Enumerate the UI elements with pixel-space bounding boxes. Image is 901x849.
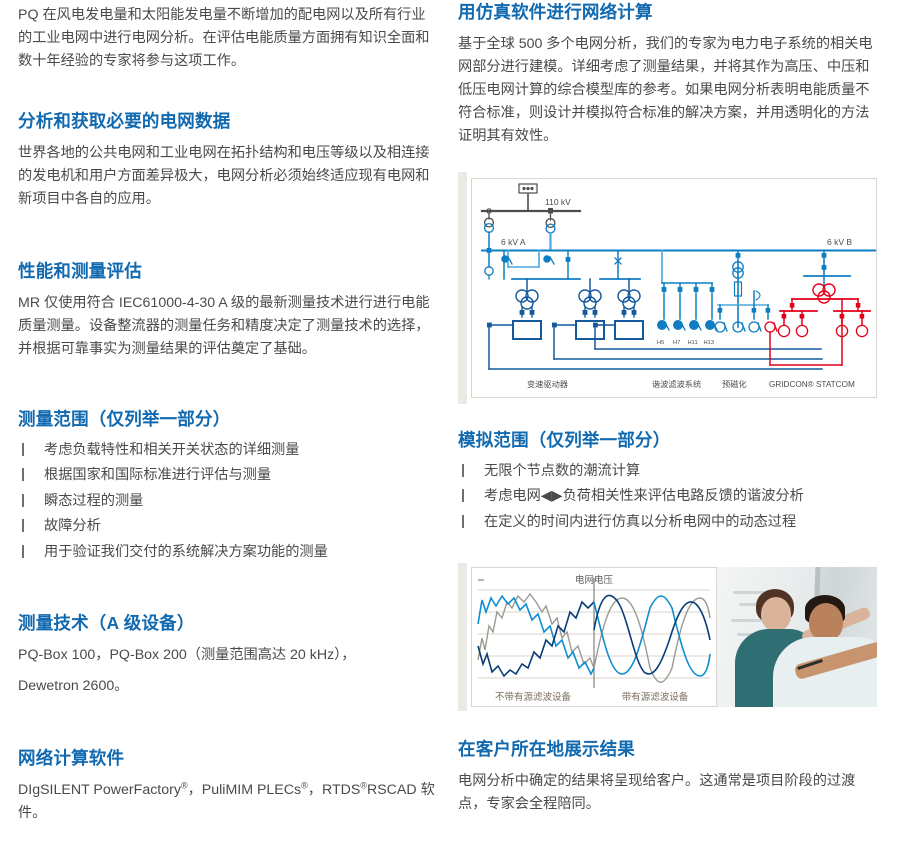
list-item: 故障分析	[18, 516, 436, 537]
spacer	[458, 404, 881, 430]
section-heading-performance: 性能和测量评估	[18, 261, 436, 283]
bullet-bar-icon	[22, 468, 24, 481]
list-item: 无限个节点数的潮流计算	[458, 461, 881, 482]
right-column: 用仿真软件进行网络计算 基于全球 500 多个电网分析，我们的专家为电力电子系统…	[450, 0, 901, 849]
bullet-bar-icon	[462, 464, 464, 477]
svg-text:110 kV: 110 kV	[545, 197, 571, 207]
single-line-diagram-figure: 110 kV	[458, 172, 889, 404]
measurement-scope-list: 考虑负载特性和相关开关状态的详细测量 根据国家和国际标准进行评估与测量 瞬态过程…	[18, 440, 436, 563]
page-root: PQ 在风电发电量和太阳能发电量不断增加的配电网以及所有行业的工业电网中进行电网…	[0, 0, 901, 849]
consultants-photo	[717, 567, 877, 707]
waveform-caption-left: 不带有源滤波设备	[472, 689, 594, 703]
registered-mark-icon: ®	[181, 780, 188, 790]
list-item-label: 考虑负载特性和相关开关状态的详细测量	[44, 442, 299, 458]
spacer	[18, 369, 436, 409]
network-software-paragraph: DIgSILENT PowerFactory®，PuliMIM PLECs®，R…	[18, 779, 436, 825]
bullet-bar-icon	[22, 494, 24, 507]
section-heading-simulation-scope: 模拟范围（仅列举一部分）	[458, 430, 881, 452]
figure-frame: 电网电压	[471, 567, 877, 707]
list-item: 考虑负载特性和相关开关状态的详细测量	[18, 440, 436, 461]
bullet-bar-icon	[22, 519, 24, 532]
spacer	[458, 156, 881, 168]
diagram-label-filters: 谐波滤波系统	[652, 379, 701, 389]
left-column: PQ 在风电发电量和太阳能发电量不断增加的配电网以及所有行业的工业电网中进行电网…	[0, 0, 450, 849]
intro-paragraph: PQ 在风电发电量和太阳能发电量不断增加的配电网以及所有行业的工业电网中进行电网…	[18, 4, 436, 73]
list-item-label: 用于验证我们交付的系统解决方案功能的测量	[44, 544, 328, 560]
software-plecs-prefix: ，PuliMIM PLECs	[188, 782, 302, 798]
section-heading-simulation: 用仿真软件进行网络计算	[458, 2, 881, 24]
list-item-label: 瞬态过程的测量	[44, 493, 143, 509]
list-item-label: 考虑电网◀▶负荷相关性来评估电路反馈的谐波分析	[484, 488, 804, 504]
list-item: 根据国家和国际标准进行评估与测量	[18, 465, 436, 486]
list-item: 考虑电网◀▶负荷相关性来评估电路反馈的谐波分析	[458, 486, 881, 507]
waveform-svg	[472, 568, 716, 706]
simulation-scope-list: 无限个节点数的潮流计算 考虑电网◀▶负荷相关性来评估电路反馈的谐波分析 在定义的…	[458, 461, 881, 533]
grid-voltage-waveform-chart: 电网电压	[471, 567, 717, 707]
diagram-label-drives: 变速驱动器	[527, 379, 568, 389]
section-heading-measurement-tech: 测量技术（A 级设备）	[18, 613, 436, 635]
svg-text:H5: H5	[657, 340, 664, 346]
measurement-tech-line1: PQ-Box 100，PQ-Box 200（测量范围高达 20 kHz），	[18, 644, 436, 667]
section-heading-results: 在客户所在地展示结果	[458, 739, 881, 761]
spacer	[18, 81, 436, 111]
diagram-svg: 110 kV	[472, 179, 877, 397]
waveform-photo-figure: 电网电压	[458, 563, 889, 711]
list-item: 瞬态过程的测量	[18, 491, 436, 512]
spacer	[458, 537, 881, 559]
section-paragraph-grid-data: 世界各地的公共电网和工业电网在拓扑结构和电压等级以及相连接的发电机和用户方面差异…	[18, 142, 436, 211]
registered-mark-icon: ®	[360, 780, 367, 790]
list-item-label: 故障分析	[44, 518, 101, 534]
bullet-bar-icon	[462, 489, 464, 502]
waveform-captions: 不带有源滤波设备 带有源滤波设备	[472, 689, 716, 703]
section-heading-grid-data: 分析和获取必要的电网数据	[18, 111, 436, 133]
section-paragraph-simulation: 基于全球 500 多个电网分析，我们的专家为电力电子系统的相关电网部分进行建模。…	[458, 33, 881, 148]
svg-text:H7: H7	[673, 340, 680, 346]
measurement-tech-line2: Dewetron 2600。	[18, 675, 436, 698]
section-paragraph-results: 电网分析中确定的结果将呈现给客户。这通常是项目阶段的过渡点，专家会全程陪同。	[458, 770, 881, 816]
bullet-bar-icon	[22, 545, 24, 558]
svg-text:H13: H13	[704, 340, 715, 346]
software-powerfactory: DIgSILENT PowerFactory	[18, 782, 181, 798]
bullet-bar-icon	[22, 443, 24, 456]
software-rtds-prefix: ，RTDS	[308, 782, 361, 798]
list-item: 用于验证我们交付的系统解决方案功能的测量	[18, 542, 436, 563]
person-head	[809, 603, 843, 641]
list-item: 在定义的时间内进行仿真以分析电网中的动态过程	[458, 512, 881, 533]
diagram-label-premag: 预磁化	[722, 379, 747, 389]
svg-text:H11: H11	[688, 340, 698, 346]
list-item-label: 在定义的时间内进行仿真以分析电网中的动态过程	[484, 514, 796, 530]
diagram-label-statcom: GRIDCON® STATCOM	[769, 380, 855, 389]
diagram-frame: 110 kV	[471, 178, 877, 398]
svg-text:6 kV A: 6 kV A	[501, 237, 526, 247]
waveform-title: 电网电压	[472, 572, 716, 586]
bullet-bar-icon	[462, 515, 464, 528]
person-head	[761, 597, 791, 631]
svg-text:6 kV B: 6 kV B	[827, 237, 852, 247]
registered-mark-icon: ®	[301, 780, 308, 790]
spacer	[18, 219, 436, 261]
section-heading-measurement-scope: 测量范围（仅列举一部分）	[18, 409, 436, 431]
list-item-label: 无限个节点数的潮流计算	[484, 463, 640, 479]
spacer	[18, 567, 436, 613]
section-heading-network-software: 网络计算软件	[18, 748, 436, 770]
list-item-label: 根据国家和国际标准进行评估与测量	[44, 467, 271, 483]
spacer	[458, 711, 881, 739]
section-paragraph-performance: MR 仅使用符合 IEC61000-4-30 A 级的最新测量技术进行进行电能质…	[18, 292, 436, 361]
waveform-caption-right: 带有源滤波设备	[594, 689, 716, 703]
spacer	[18, 706, 436, 748]
